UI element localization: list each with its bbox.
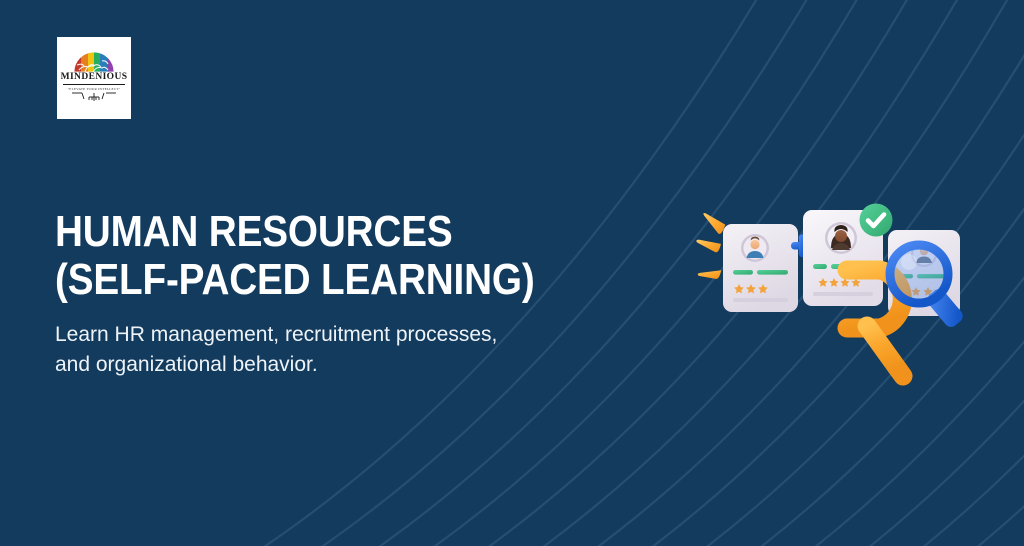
- page-title: HUMAN RESOURCES (SELF-PACED LEARNING): [55, 208, 583, 303]
- logo-tagline: "ELEVATE YOUR INTELLECT": [68, 87, 121, 91]
- check-icon: [860, 204, 893, 237]
- logo-stand-icon: [70, 92, 118, 104]
- brand-logo[interactable]: MINDENIOUS "ELEVATE YOUR INTELLECT": [57, 37, 131, 119]
- page-subtitle: Learn HR management, recruitment process…: [55, 320, 655, 381]
- course-banner: MINDENIOUS "ELEVATE YOUR INTELLECT": [0, 0, 1024, 546]
- rainbow-brain-icon: [72, 52, 116, 72]
- hr-profile-cards-illustration: [695, 190, 985, 400]
- hero-copy: HUMAN RESOURCES (SELF-PACED LEARNING) Le…: [55, 208, 655, 381]
- logo-divider: [63, 84, 125, 85]
- starburst-accent-icon: [696, 211, 726, 279]
- logo-wordmark: MINDENIOUS: [61, 73, 128, 83]
